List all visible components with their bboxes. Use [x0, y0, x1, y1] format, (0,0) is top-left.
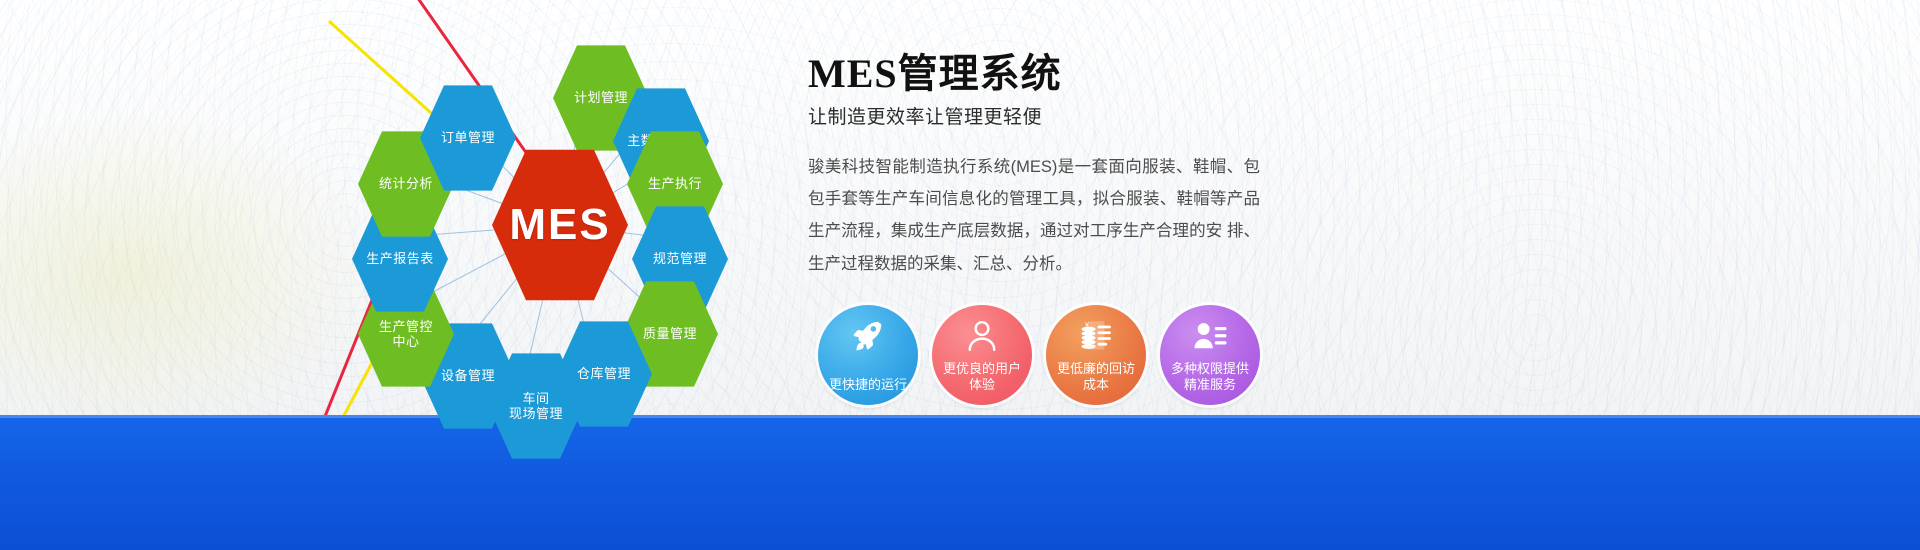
feature-badge-label: 多种权限提供精准服务 [1160, 361, 1260, 394]
hex-node-label: 设备管理 [441, 368, 495, 383]
hex-node-label: 生产执行 [648, 176, 702, 191]
coins-icon: ¥ [1079, 319, 1113, 353]
user-list-icon [1193, 319, 1227, 353]
feature-badge-label: 更低廉的回访成本 [1046, 361, 1146, 394]
hex-node-label: 生产报告表 [366, 251, 434, 266]
content-column: MES管理系统 让制造更效率让管理更轻便 骏美科技智能制造执行系统(MES)是一… [808, 52, 1328, 280]
hex-node-label: 生产管控 中心 [379, 319, 433, 350]
rocket-icon [851, 319, 885, 353]
page-subtitle: 让制造更效率让管理更轻便 [808, 102, 1328, 129]
description-paragraph: 骏美科技智能制造执行系统(MES)是一套面向服装、鞋帽、包包手套等生产车间信息化… [808, 151, 1260, 280]
mes-hexagon-diagram: 计划管理主数据管理生产执行规范管理质量管理仓库管理车间 现场管理设备管理生产管控… [340, 20, 780, 430]
feature-badge-3[interactable]: ¥更低廉的回访成本 [1046, 305, 1146, 405]
hex-node-label: 计划管理 [574, 90, 628, 105]
background-yellow-glow [0, 110, 380, 440]
hex-node-label: 规范管理 [653, 251, 707, 266]
feature-badge-4[interactable]: 多种权限提供精准服务 [1160, 305, 1260, 405]
feature-badge-label: 更快捷的运行 [823, 377, 913, 393]
feature-badge-row: 更快捷的运行更优良的用户体验¥更低廉的回访成本多种权限提供精准服务 [818, 305, 1260, 405]
bottom-blue-band [0, 415, 1920, 550]
banner-stage: 计划管理主数据管理生产执行规范管理质量管理仓库管理车间 现场管理设备管理生产管控… [0, 0, 1920, 550]
feature-badge-label: 更优良的用户体验 [932, 361, 1032, 394]
page-title: MES管理系统 [808, 52, 1328, 96]
hex-node-label: 质量管理 [643, 326, 697, 341]
hex-node-label: 车间 现场管理 [509, 391, 563, 422]
hex-node-label: 统计分析 [379, 176, 433, 191]
feature-badge-2[interactable]: 更优良的用户体验 [932, 305, 1032, 405]
hex-node-label: 订单管理 [441, 130, 495, 145]
user-icon [965, 319, 999, 353]
feature-badge-1[interactable]: 更快捷的运行 [818, 305, 918, 405]
hex-node-label: 仓库管理 [577, 366, 631, 381]
